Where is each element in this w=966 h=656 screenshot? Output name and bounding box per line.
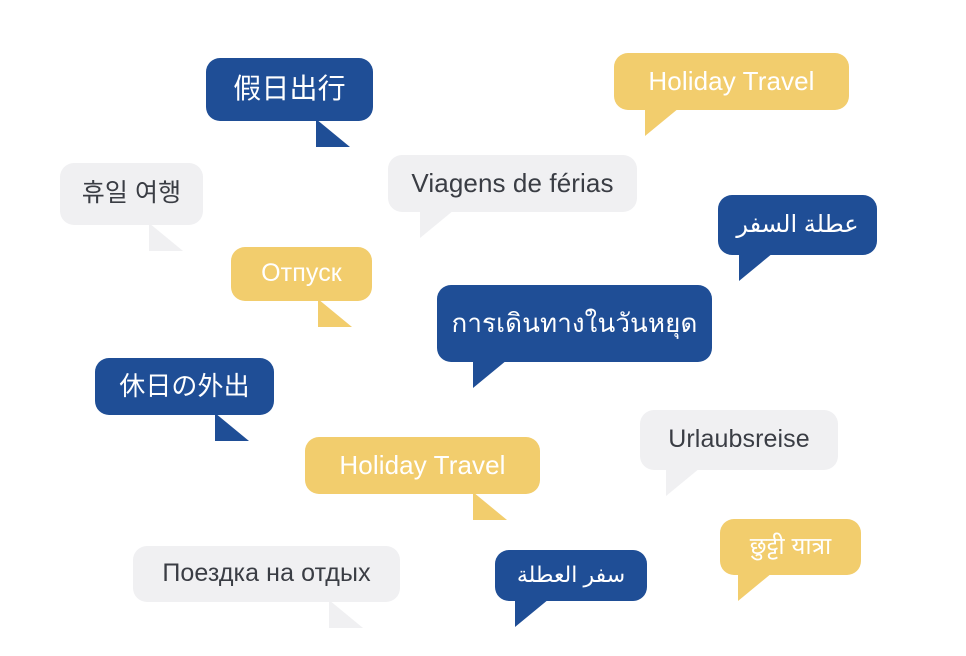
speech-bubble-collage: 假日出行Holiday Travel휴일 여행Viagens de férias…	[0, 0, 966, 656]
bubble-thai[interactable]: การเดินทางในวันหยุด	[437, 285, 712, 362]
bubble-label: Viagens de férias	[407, 169, 617, 198]
bubble-tail-icon	[515, 599, 549, 627]
bubble-label: 假日出行	[229, 74, 349, 105]
bubble-tail-icon	[473, 492, 507, 520]
bubble-label: Отпуск	[257, 260, 346, 288]
bubble-tail-icon	[645, 108, 679, 136]
bubble-label: عطلة السفر	[732, 212, 862, 238]
bubble-english-mid[interactable]: Holiday Travel	[305, 437, 540, 494]
bubble-label: การเดินทางในวันหยุด	[448, 309, 702, 338]
bubble-german[interactable]: Urlaubsreise	[640, 410, 838, 470]
bubble-english-top[interactable]: Holiday Travel	[614, 53, 849, 110]
bubble-label: سفر العطلة	[513, 563, 629, 587]
bubble-tail-icon	[473, 360, 507, 388]
bubble-label: Holiday Travel	[644, 67, 818, 96]
bubble-label: 휴일 여행	[78, 180, 185, 208]
bubble-arabic-bottom[interactable]: سفر العطلة	[495, 550, 647, 601]
bubble-label: Holiday Travel	[335, 451, 509, 480]
bubble-russian-poezdka[interactable]: Поездка на отдых	[133, 546, 400, 602]
bubble-tail-icon	[316, 119, 350, 147]
bubble-tail-icon	[666, 468, 700, 496]
bubble-russian-otpusk[interactable]: Отпуск	[231, 247, 372, 301]
bubble-tail-icon	[215, 413, 249, 441]
bubble-portuguese[interactable]: Viagens de férias	[388, 155, 637, 212]
bubble-label: Поездка на отдых	[158, 560, 374, 588]
bubble-label: छुट्टी यात्रा	[746, 534, 836, 560]
bubble-hindi[interactable]: छुट्टी यात्रा	[720, 519, 861, 575]
bubble-label: Urlaubsreise	[664, 426, 814, 454]
bubble-korean[interactable]: 휴일 여행	[60, 163, 203, 225]
bubble-label: 休日の外出	[115, 372, 254, 401]
bubble-tail-icon	[738, 573, 772, 601]
bubble-arabic-top[interactable]: عطلة السفر	[718, 195, 877, 255]
bubble-tail-icon	[329, 600, 363, 628]
bubble-tail-icon	[318, 299, 352, 327]
bubble-chinese[interactable]: 假日出行	[206, 58, 373, 121]
bubble-tail-icon	[420, 210, 454, 238]
bubble-japanese[interactable]: 休日の外出	[95, 358, 274, 415]
bubble-tail-icon	[739, 253, 773, 281]
bubble-tail-icon	[149, 223, 183, 251]
